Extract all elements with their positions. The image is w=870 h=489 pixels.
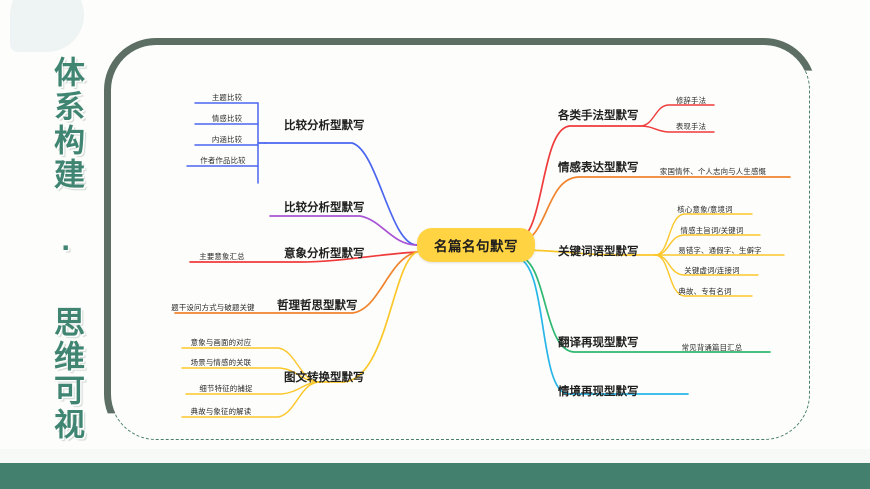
branch-label-left-1[interactable]: 比较分析型默写 [284, 199, 365, 215]
branch-label-right-1[interactable]: 情感表达型默写 [558, 159, 639, 175]
leaf-right-2-4[interactable]: 典故、专有名词 [678, 286, 731, 297]
branch-label-right-4[interactable]: 情境再现型默写 [558, 383, 639, 399]
leaf-left-4-1[interactable]: 场景与情感的关联 [191, 357, 252, 368]
branch-label-left-3[interactable]: 哲理哲思型默写 [277, 297, 358, 313]
leaf-right-0-0[interactable]: 修辞手法 [676, 95, 706, 106]
branch-label-left-0[interactable]: 比较分析型默写 [284, 117, 365, 133]
leaf-right-1-0[interactable]: 家国情怀、个人志向与人生感慨 [660, 166, 766, 177]
leaf-right-3-0[interactable]: 常见背诵篇目汇总 [682, 342, 743, 353]
footer-spacer [0, 449, 870, 463]
leaf-right-2-1[interactable]: 情感主旨词/关键词 [681, 225, 744, 236]
footer-bar [0, 463, 870, 489]
branch-label-left-4[interactable]: 图文转换型默写 [284, 369, 365, 385]
leaf-left-4-2[interactable]: 细节特征的捕捉 [199, 383, 252, 394]
leaf-right-0-1[interactable]: 表现手法 [676, 121, 706, 132]
slide-canvas: 体系构建 · 思维可视 [0, 0, 870, 489]
center-node[interactable]: 名篇名句默写 [417, 228, 535, 262]
leaf-right-2-3[interactable]: 关键虚词/连接词 [684, 265, 739, 276]
leaf-left-0-3[interactable]: 作者作品比较 [200, 155, 246, 166]
leaf-right-2-2[interactable]: 易错字、通假字、生僻字 [678, 245, 762, 256]
branch-label-right-2[interactable]: 关键词语型默写 [558, 243, 639, 259]
leaf-left-0-2[interactable]: 内涵比较 [212, 134, 242, 145]
leaf-left-2-0[interactable]: 主要意象汇总 [199, 251, 245, 262]
leaf-left-0-0[interactable]: 主题比较 [212, 92, 242, 103]
branch-label-right-3[interactable]: 翻译再现型默写 [558, 334, 639, 350]
branch-label-right-0[interactable]: 各类手法型默写 [558, 107, 639, 123]
leaf-right-2-0[interactable]: 核心意象/意境词 [677, 204, 732, 215]
leaf-left-3-0[interactable]: 题干设问方式与破题关键 [171, 302, 255, 313]
leaf-left-0-1[interactable]: 情感比较 [212, 113, 242, 124]
leaf-left-4-3[interactable]: 典故与象征的解读 [191, 406, 252, 417]
branch-label-left-2[interactable]: 意象分析型默写 [284, 245, 365, 261]
leaf-left-4-0[interactable]: 意象与画面的对应 [191, 337, 252, 348]
